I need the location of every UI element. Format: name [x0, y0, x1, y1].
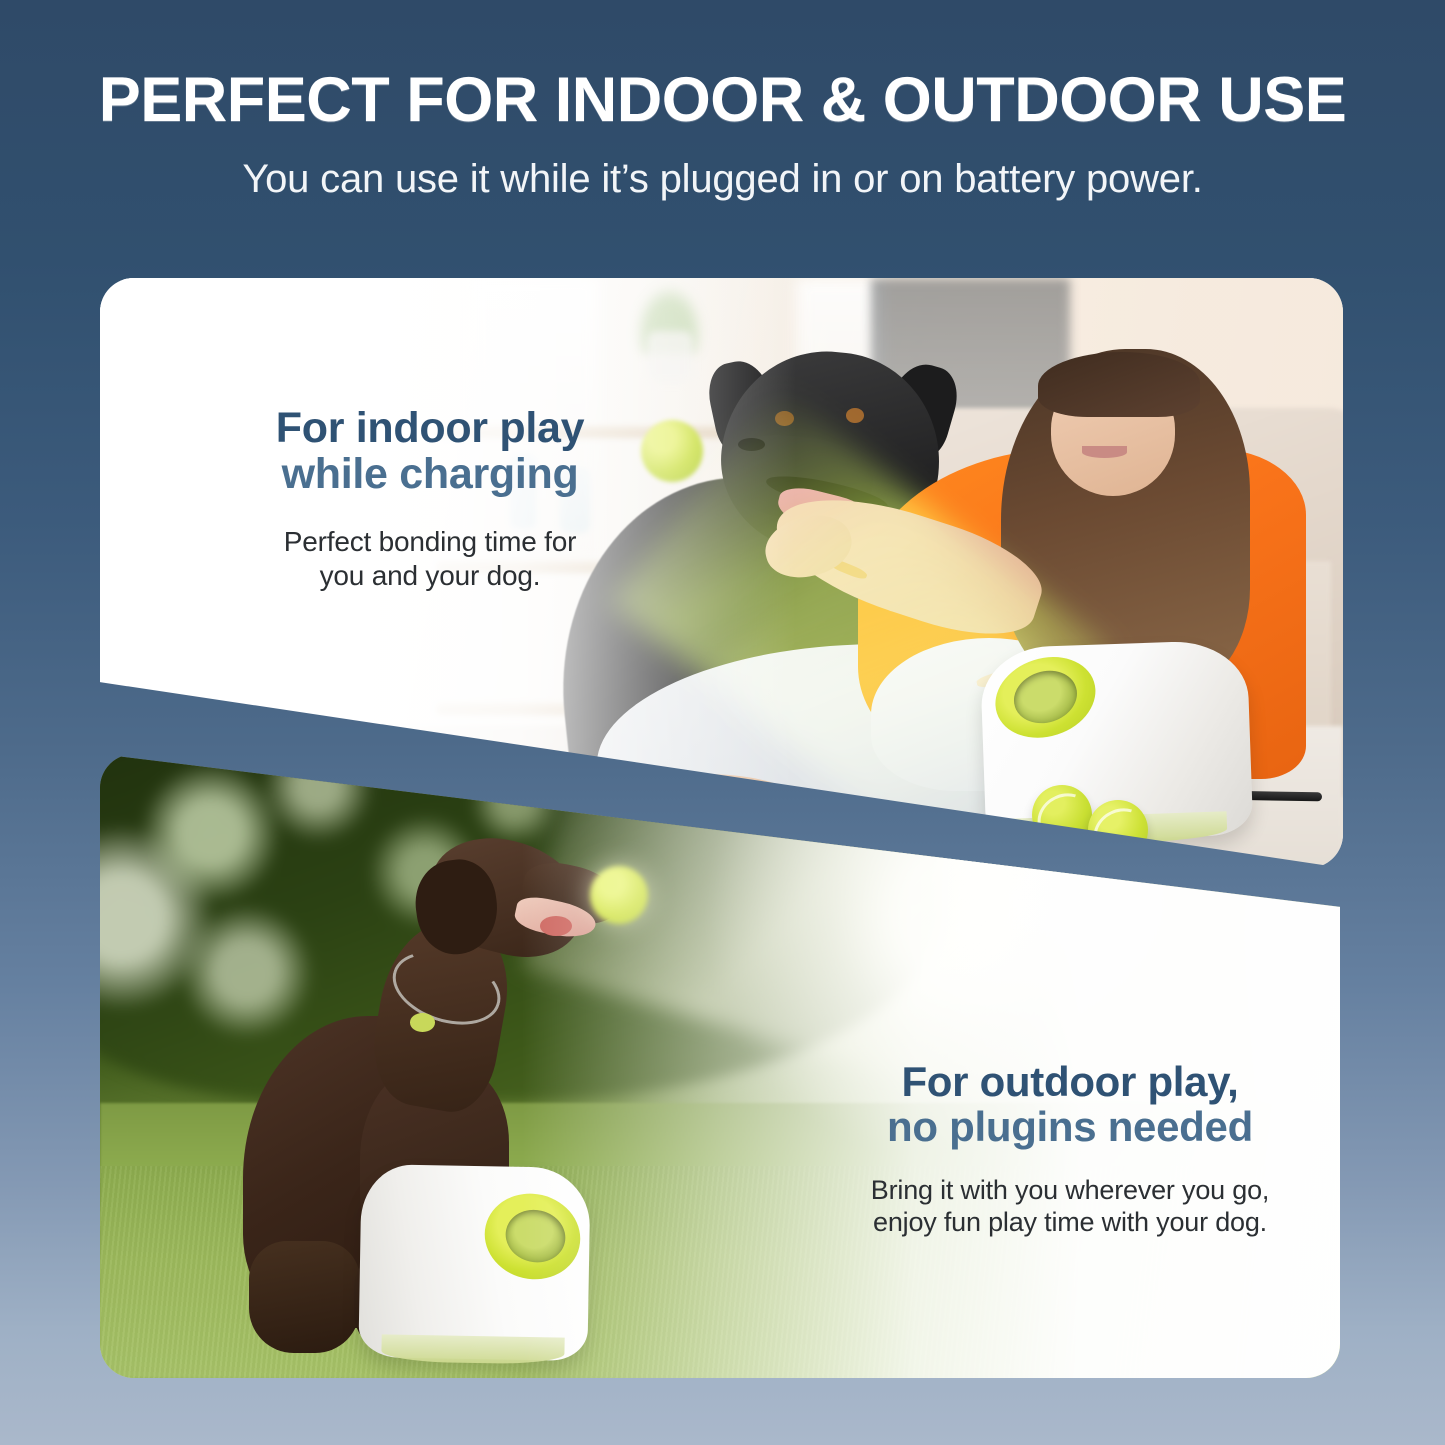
- woman-smile: [1082, 446, 1127, 458]
- outdoor-title-line2: no plugins needed: [800, 1105, 1340, 1150]
- tennis-ball-floor: [1032, 785, 1092, 845]
- outdoor-title: For outdoor play, no plugins needed: [800, 1060, 1340, 1150]
- brown-dog-collar-tag: [410, 1013, 435, 1032]
- outdoor-body-line2: enjoy fun play time with your dog.: [873, 1207, 1267, 1237]
- page-title: PERFECT FOR INDOOR & OUTDOOR USE: [0, 68, 1445, 134]
- indoor-title: For indoor play while charging: [200, 405, 660, 497]
- outdoor-title-line1: For outdoor play,: [800, 1060, 1340, 1105]
- indoor-body: Perfect bonding time for you and your do…: [200, 525, 660, 592]
- poster: PERFECT FOR INDOOR & OUTDOOR USE You can…: [0, 0, 1445, 1445]
- indoor-title-line2: while charging: [200, 451, 660, 497]
- woman-hair-front: [1038, 352, 1200, 417]
- outdoor-copy-block: For outdoor play, no plugins needed Brin…: [800, 1060, 1340, 1239]
- outdoor-panel-card: For outdoor play, no plugins needed Brin…: [100, 754, 1340, 1378]
- tennis-ball-floor: [1088, 800, 1148, 860]
- outdoor-body-line1: Bring it with you wherever you go,: [871, 1175, 1269, 1205]
- page-subtitle: You can use it while it’s plugged in or …: [0, 156, 1445, 202]
- indoor-body-line1: Perfect bonding time for: [284, 526, 576, 557]
- header: PERFECT FOR INDOOR & OUTDOOR USE You can…: [0, 68, 1445, 202]
- indoor-title-line1: For indoor play: [276, 404, 584, 452]
- indoor-copy-block: For indoor play while charging Perfect b…: [200, 405, 660, 592]
- indoor-body-line2: you and your dog.: [320, 560, 541, 591]
- brown-dog-leg: [249, 1241, 361, 1353]
- outdoor-body: Bring it with you wherever you go, enjoy…: [800, 1174, 1340, 1239]
